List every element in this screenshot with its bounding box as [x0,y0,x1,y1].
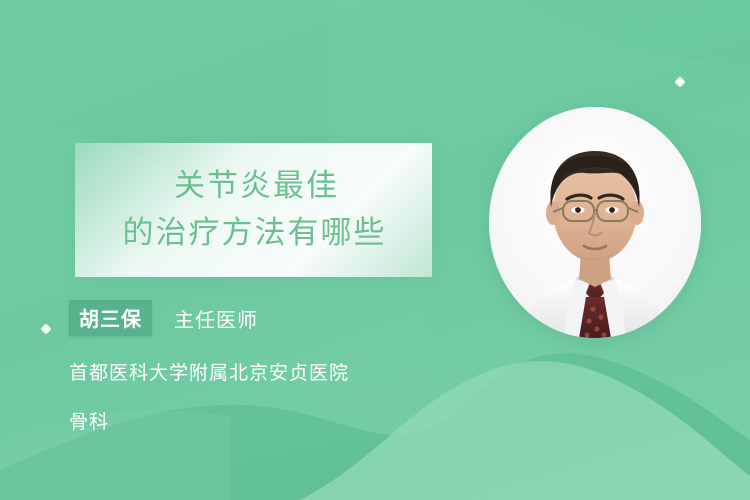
title-card: 关节炎最佳 的治疗方法有哪些 [75,143,432,277]
doctor-department: 骨科 [69,407,489,434]
doctor-job-title: 主任医师 [174,304,258,333]
doctor-portrait [489,107,701,338]
doctor-name-row: 胡三保 主任医师 [69,300,489,336]
page-title-line-1: 关节炎最佳 [168,168,339,205]
wave-upper-right-ridge [520,0,750,66]
doctor-info: 胡三保 主任医师 首都医科大学附属北京安贞医院 骨科 [69,300,489,434]
doctor-name-badge: 胡三保 [69,300,152,336]
doctor-hospital: 首都医科大学附属北京安贞医院 [69,358,489,385]
doctor-article-cover: 关节炎最佳 的治疗方法有哪些 胡三保 主任医师 首都医科大学附属北京安贞医院 骨… [0,0,750,500]
page-title-line-2: 的治疗方法有哪些 [121,215,387,252]
doctor-portrait-illustration [489,107,701,338]
